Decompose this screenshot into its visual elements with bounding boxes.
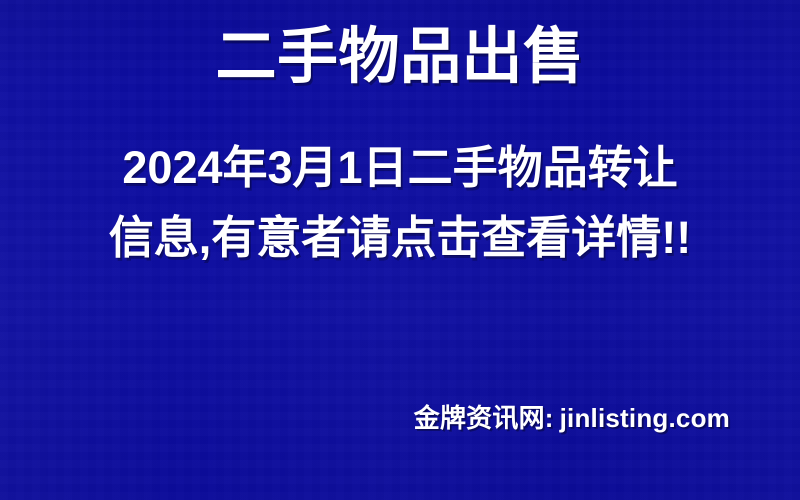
poster-headline: 二手物品出售 <box>0 24 800 88</box>
site-url-label[interactable]: jinlisting.com <box>560 403 730 433</box>
body-line-1: 2024年3月1日二手物品转让 <box>0 133 800 203</box>
poster-footer: 金牌资讯网:jinlisting.com <box>414 398 730 435</box>
poster-content: 二手物品出售 2024年3月1日二手物品转让 信息,有意者请点击查看详情!! 金… <box>0 0 800 500</box>
site-name-label: 金牌资讯网: <box>414 403 554 433</box>
poster-body: 2024年3月1日二手物品转让 信息,有意者请点击查看详情!! <box>0 133 800 273</box>
advertisement-poster: 二手物品出售 2024年3月1日二手物品转让 信息,有意者请点击查看详情!! 金… <box>0 0 800 500</box>
body-line-2: 信息,有意者请点击查看详情!! <box>0 203 800 273</box>
